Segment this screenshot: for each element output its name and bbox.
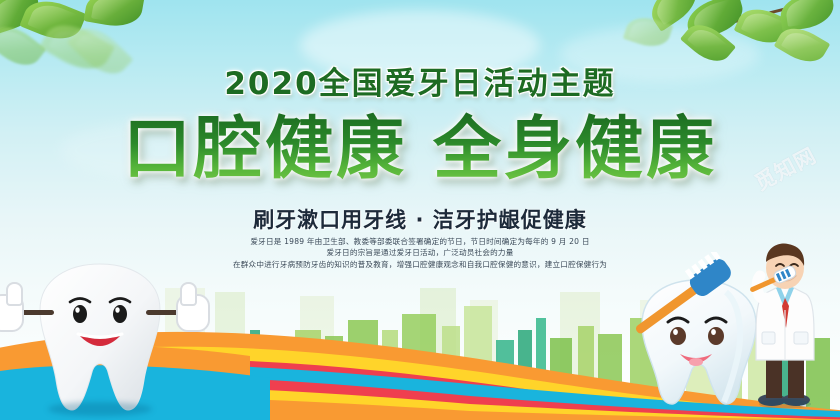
thumb-icon (6, 282, 23, 306)
leg-left (766, 354, 782, 398)
leg-right (788, 354, 804, 398)
tooth-mascot-left (34, 262, 166, 412)
tooth-body (34, 262, 166, 412)
dental-health-poster: 2020全国爱牙日活动主题 口腔健康全身健康 刷牙漱口用牙线 · 洁牙护龈促健康… (0, 0, 840, 420)
eye-left (73, 305, 87, 323)
coat-pocket-2 (762, 332, 775, 344)
hand-right-thumbs-up (176, 294, 210, 332)
theme-title: 2020全国爱牙日活动主题 (0, 58, 840, 103)
main-title-left: 口腔健康 (123, 110, 407, 189)
dentist-figure (742, 236, 828, 408)
brush-handle (634, 284, 699, 335)
eye-right (113, 305, 127, 323)
coat-pocket (794, 332, 808, 344)
body-line-1: 爱牙日是 1989 年由卫生部、教委等部委联合签署确定的节日，节日时间确定为每年… (0, 236, 840, 247)
main-title-right: 全身健康 (433, 110, 717, 189)
subtitle: 刷牙漱口用牙线 · 洁牙护龈促健康 (0, 204, 840, 234)
main-title: 口腔健康全身健康 (0, 110, 840, 190)
tooth-shadow (48, 402, 152, 416)
hand-left-thumbs-up (0, 294, 24, 332)
dentist-illustration (742, 236, 828, 408)
thumb-icon (180, 282, 197, 306)
